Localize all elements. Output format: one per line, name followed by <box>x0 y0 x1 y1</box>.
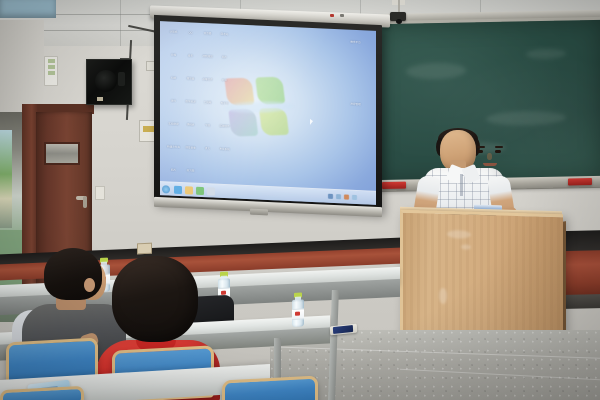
desktop-icon[interactable]: 播放器 <box>183 76 198 81</box>
desktop-icon[interactable]: 照片 <box>166 167 181 172</box>
desktop-icon-label: 新建文件夹 <box>166 145 181 149</box>
desktop-icon[interactable]: 练习题 <box>183 168 198 173</box>
desktop-icon-label: 办公 <box>217 79 232 83</box>
desktop-icon[interactable]: 教学资源 <box>183 99 198 104</box>
desktop-icon-label: 文档 <box>166 53 181 57</box>
desktop-icon-label: 视频播放 <box>200 55 215 59</box>
desktop-icon-label: 教学平台 <box>348 41 363 45</box>
desktop-icon-label: 压缩软件 <box>217 125 232 129</box>
classroom-scene: 计算机QQ浏览器回收站文档音乐视频播放图片网络播放器杀毒软件办公课件教学资源工具… <box>0 0 600 400</box>
desktop-icon-label: 计算机 <box>166 30 181 34</box>
door-latch[interactable] <box>83 196 87 208</box>
desktop-icon-label: 回收站 <box>217 33 232 37</box>
desktop-icon[interactable]: 回收站 <box>217 32 232 37</box>
wall-control-box[interactable] <box>44 56 58 86</box>
desktop-icon-label: 下载 <box>200 124 215 128</box>
desktop-icon[interactable]: 音乐 <box>183 53 198 58</box>
presenter <box>408 128 520 220</box>
ceiling-light-panel <box>0 0 56 18</box>
desktop-icon-label: 电子书 <box>217 102 232 106</box>
desktop-icon[interactable]: 讲义 <box>200 146 215 151</box>
desktop-icon[interactable]: 教学平台 <box>348 40 363 45</box>
desktop-icon-label: 图片 <box>217 56 232 60</box>
desktop-icon[interactable]: 计算机 <box>166 29 181 34</box>
corridor-window <box>0 130 12 228</box>
desktop-icon[interactable]: 杀毒软件 <box>200 77 215 82</box>
desktop-icon[interactable]: 工具箱 <box>200 100 215 105</box>
desktop-icon-layer[interactable]: 计算机QQ浏览器回收站文档音乐视频播放图片网络播放器杀毒软件办公课件教学资源工具… <box>160 21 376 205</box>
desktop-icon-label: 网络 <box>166 76 181 80</box>
desktop-icon-label: 考试系统 <box>217 148 232 152</box>
desktop-icon[interactable]: 课程表 <box>183 122 198 127</box>
housing-button-icon[interactable] <box>340 14 344 17</box>
lecture-chair[interactable] <box>222 375 318 400</box>
desktop-icon-label: 练习题 <box>183 169 198 173</box>
audience-left-ear <box>84 278 95 292</box>
desktop-icon-label: 课堂录像 <box>183 146 198 150</box>
desktop-icon[interactable]: 视频播放 <box>200 54 215 59</box>
housing-indicator-icon <box>330 14 334 17</box>
desktop-icon-label: 讲义 <box>200 147 215 151</box>
wall-outlet[interactable] <box>137 243 152 255</box>
presenter-shirt-placket <box>460 174 463 196</box>
desktop-icon-label: QQ <box>183 31 198 35</box>
desktop-icon[interactable]: 图片 <box>217 55 232 60</box>
desktop-icon[interactable]: 浏览器 <box>200 31 215 36</box>
desktop-icon-label: 浏览器 <box>200 32 215 36</box>
desktop-icon[interactable]: 课堂录像 <box>183 145 198 150</box>
desktop-icon[interactable]: QQ <box>183 30 198 35</box>
desktop-icon-label: 课程表 <box>183 123 198 127</box>
blackboard-eraser[interactable] <box>382 182 406 189</box>
desktop-icon-label: 音乐 <box>183 54 198 58</box>
light-switch[interactable] <box>95 186 105 200</box>
wall-speaker <box>86 59 132 105</box>
desktop-icon[interactable]: 课件 <box>166 98 181 103</box>
desktop-icon-label: 工具箱 <box>200 101 215 105</box>
desktop-icon[interactable]: 资源管理 <box>348 102 363 107</box>
desktop-icon-label: 实验数据 <box>166 122 181 126</box>
audience-center-hair <box>112 256 198 342</box>
desktop-icon-label: 播放器 <box>183 77 198 81</box>
desktop-icon[interactable]: 压缩软件 <box>217 124 232 129</box>
desktop-icon[interactable]: 办公 <box>217 78 232 83</box>
desktop-icon[interactable]: 新建文件夹 <box>166 144 181 149</box>
audience-left-hair <box>44 248 102 300</box>
desktop-icon-label: 教学资源 <box>183 100 198 104</box>
camera-lens-icon <box>396 19 402 24</box>
screen-pull-handle[interactable] <box>250 209 268 216</box>
desktop-icon-label: 资源管理 <box>348 103 363 107</box>
desktop-icon[interactable]: 下载 <box>200 123 215 128</box>
blackboard-eraser[interactable] <box>568 178 592 185</box>
door-vision-panel <box>44 142 80 165</box>
desktop-icon[interactable]: 实验数据 <box>166 121 181 126</box>
desktop-icon-label: 课件 <box>166 99 181 103</box>
desktop-icon-label: 杀毒软件 <box>200 78 215 82</box>
desktop-icon[interactable]: 考试系统 <box>217 147 232 152</box>
desktop-icon[interactable]: 电子书 <box>217 101 232 106</box>
desktop-icon-label: 照片 <box>166 168 181 172</box>
desktop-icon[interactable]: 网络 <box>166 75 181 80</box>
desktop-icon[interactable]: 文档 <box>166 52 181 57</box>
